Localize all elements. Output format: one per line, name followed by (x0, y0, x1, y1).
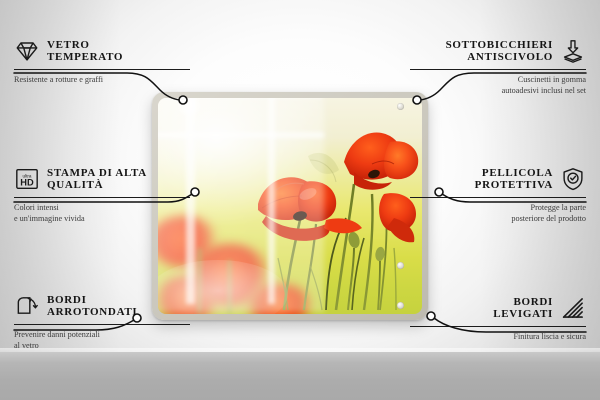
feature-pellicola-protettiva: PELLICOLA PROTETTIVA Protegge la parte p… (410, 166, 586, 224)
press-pad-icon (560, 38, 586, 64)
feature-subtitle: Finitura liscia e sicura (410, 332, 586, 343)
icon-label-hd: HD (20, 178, 34, 188)
feature-title: STAMPA DI ALTA QUALITÀ (47, 167, 147, 192)
feature-subtitle: Colori intensi e un'immagine vivida (14, 203, 190, 224)
feature-sottobicchieri-antiscivolo: SOTTOBICCHIERI ANTISCIVOLO Cuscinetti in… (410, 38, 586, 96)
feature-divider (410, 197, 586, 198)
feature-bordi-arrotondati: BORDI ARROTONDATI Prevenire danni potenz… (14, 293, 190, 351)
feature-subtitle: Cuscinetti in gomma autoadesivi inclusi … (410, 75, 586, 96)
poppy-illustration (158, 98, 422, 314)
feature-subtitle: Resistente a rotture e graffi (14, 75, 190, 86)
polished-edge-icon (560, 295, 586, 321)
diamond-icon (14, 38, 40, 64)
feature-subtitle: Protegge la parte posteriore del prodott… (410, 203, 586, 224)
glass-board-artwork (158, 98, 422, 314)
feature-title: PELLICOLA PROTETTIVA (475, 167, 553, 192)
feature-divider (410, 69, 586, 70)
feature-bordi-levigati: BORDI LEVIGATI Finitura liscia e sicura (410, 295, 586, 343)
floor-surface (0, 352, 600, 400)
feature-stampa-alta-qualita: ultra HD STAMPA DI ALTA QUALITÀ Colori i… (14, 166, 190, 224)
product-image (152, 92, 428, 320)
anti-slip-pad (397, 302, 404, 309)
feature-title: VETRO TEMPERATO (47, 39, 123, 64)
feature-title: BORDI LEVIGATI (493, 296, 553, 321)
ultra-hd-icon: ultra HD (14, 166, 40, 192)
anti-slip-pad (397, 262, 404, 269)
shield-check-icon (560, 166, 586, 192)
feature-title: SOTTOBICCHIERI ANTISCIVOLO (446, 39, 553, 64)
feature-title: BORDI ARROTONDATI (47, 294, 137, 319)
feature-divider (14, 69, 190, 70)
feature-divider (410, 326, 586, 327)
feature-divider (14, 197, 190, 198)
feature-divider (14, 324, 190, 325)
feature-vetro-temperato: VETRO TEMPERATO Resistente a rotture e g… (14, 38, 190, 86)
rounded-corner-icon (14, 293, 40, 319)
feature-subtitle: Prevenire danni potenziali al vetro (14, 330, 190, 351)
anti-slip-pad (397, 103, 404, 110)
infographic-stage: VETRO TEMPERATO Resistente a rotture e g… (0, 0, 600, 400)
